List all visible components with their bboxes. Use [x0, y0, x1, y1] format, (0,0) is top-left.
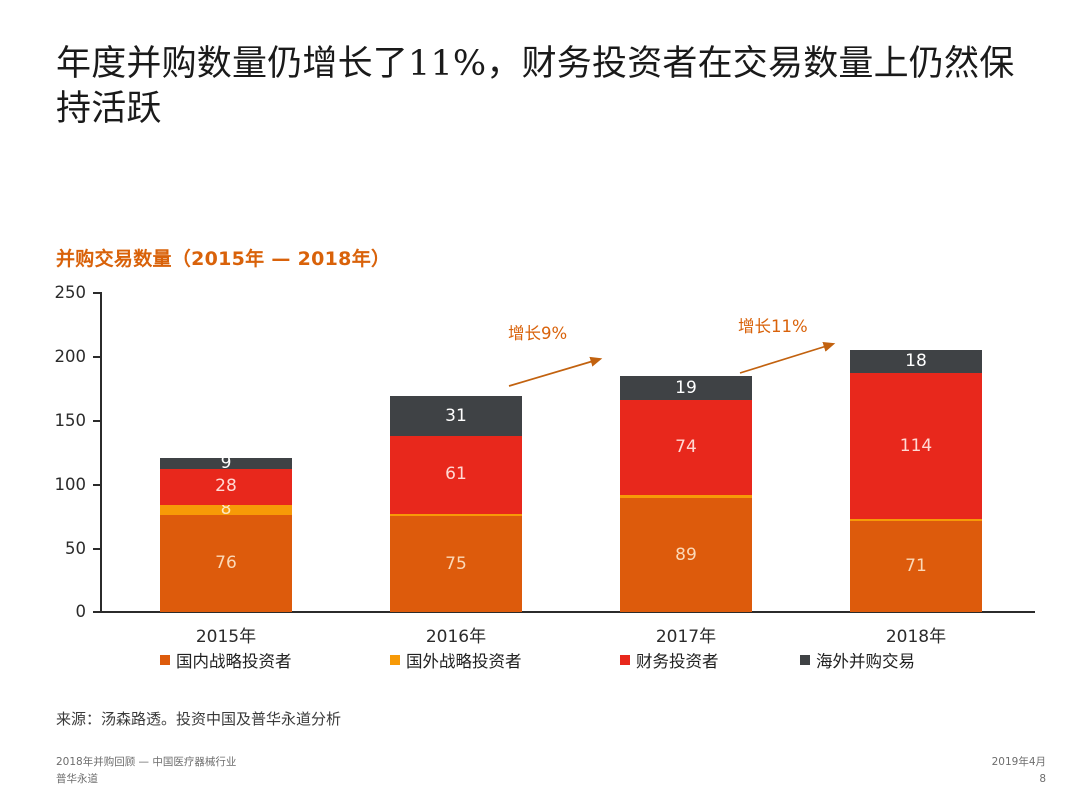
legend-swatch-foreign-icon — [390, 655, 400, 665]
x-axis-label-2018: 2018年 — [836, 622, 996, 647]
legend-item-overseas[interactable]: 海外并购交易 — [800, 648, 915, 672]
legend-label-financial: 财务投资者 — [636, 648, 719, 672]
legend-label-foreign: 国外战略投资者 — [406, 648, 522, 672]
footer-company: 普华永道 — [56, 771, 236, 788]
footer-report-name: 2018年并购回顾 — 中国医疗器械行业 — [56, 754, 236, 771]
footer-page-number: 8 — [992, 771, 1046, 788]
chart-legend: 国内战略投资者 国外战略投资者 财务投资者 海外并购交易 — [100, 648, 1035, 672]
legend-swatch-financial-icon — [620, 655, 630, 665]
footer-right: 2019年4月 8 — [992, 754, 1046, 788]
footer-left: 2018年并购回顾 — 中国医疗器械行业 普华永道 — [56, 754, 236, 788]
legend-swatch-domestic-icon — [160, 655, 170, 665]
legend-label-overseas: 海外并购交易 — [816, 648, 915, 672]
legend-label-domestic: 国内战略投资者 — [176, 648, 292, 672]
legend-item-foreign[interactable]: 国外战略投资者 — [390, 648, 522, 672]
annotation-arrow-11-icon — [0, 0, 1080, 810]
x-axis-label-2016: 2016年 — [376, 622, 536, 647]
legend-swatch-overseas-icon — [800, 655, 810, 665]
source-note: 来源：汤森路透。投资中国及普华永道分析 — [56, 708, 341, 729]
footer-date: 2019年4月 — [992, 754, 1046, 771]
x-axis-label-2015: 2015年 — [146, 622, 306, 647]
x-axis-label-2017: 2017年 — [606, 622, 766, 647]
legend-item-domestic[interactable]: 国内战略投资者 — [160, 648, 292, 672]
legend-item-financial[interactable]: 财务投资者 — [620, 648, 719, 672]
